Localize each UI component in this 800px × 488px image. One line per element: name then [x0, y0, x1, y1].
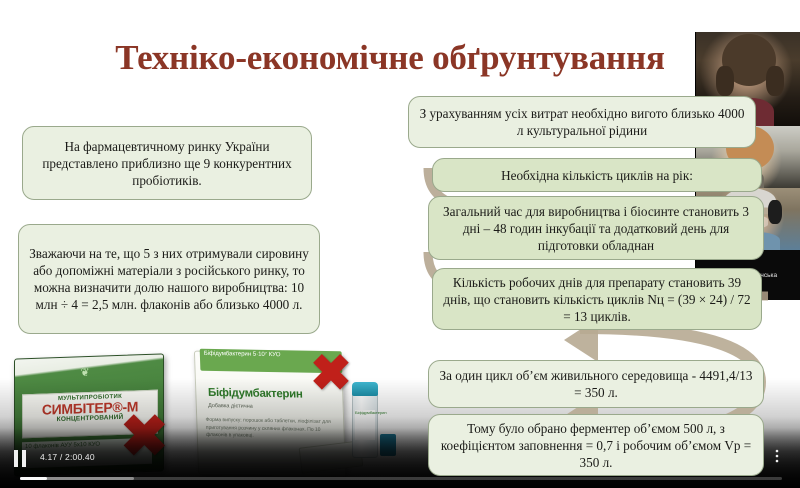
callout-working-days-text: Кількість робочих днів для препарату ста…: [443, 274, 751, 325]
pause-icon-bar-left: [14, 450, 18, 467]
page-title: Техніко-економічне обґрунтування: [60, 38, 720, 78]
callout-total-volume-text: З урахуванням усіх витрат необхідно виго…: [419, 105, 745, 139]
pause-button[interactable]: [14, 450, 30, 467]
pause-icon-bar-right: [22, 450, 26, 467]
callout-total-time-text: Загальний час для виробництва і біосинте…: [439, 203, 753, 254]
cross-out-icon-bifidum: ✖: [310, 348, 352, 398]
callout-competitors-text: На фармацевтичному ринку України предста…: [33, 138, 301, 189]
headphone-icon: [716, 66, 734, 96]
headphone-icon: [766, 66, 784, 96]
callout-cycles-header-text: Необхідна кількість циклів на рік:: [501, 167, 693, 184]
callout-market-share-text: Зважаючи на те, що 5 з них отримували си…: [29, 245, 309, 313]
time-display: 4.17 / 2:00.40: [40, 452, 95, 462]
presentation-slide: Техніко-економічне обґрунтування На фарм…: [0, 0, 800, 488]
callout-per-cycle-text: За один цикл об’єм живильного середовища…: [439, 367, 753, 401]
callout-total-volume: З урахуванням усіх витрат необхідно виго…: [408, 96, 756, 148]
leaf-icon: ❦: [72, 366, 98, 380]
callout-market-share: Зважаючи на те, що 5 з них отримували си…: [18, 224, 320, 334]
callout-working-days: Кількість робочих днів для препарату ста…: [432, 268, 762, 330]
callout-fermenter-text: Тому було обрано ферментер об’ємом 500 л…: [439, 420, 753, 471]
callout-cycles-header: Необхідна кількість циклів на рік:: [432, 158, 762, 192]
progress-played: [20, 477, 47, 480]
callout-fermenter: Тому було обрано ферментер об’ємом 500 л…: [428, 414, 764, 476]
video-player-stage: Техніко-економічне обґрунтування На фарм…: [0, 0, 800, 488]
vial-label: Біфідумбактерин: [355, 410, 375, 440]
callout-total-time: Загальний час для виробництва і біосинте…: [428, 196, 764, 260]
callout-competitors: На фармацевтичному ринку України предста…: [22, 126, 312, 200]
progress-bar[interactable]: [20, 477, 782, 480]
callout-per-cycle: За один цикл об’єм живильного середовища…: [428, 360, 764, 408]
vial-cap: [352, 382, 378, 396]
more-vertical-icon[interactable]: [774, 448, 790, 466]
